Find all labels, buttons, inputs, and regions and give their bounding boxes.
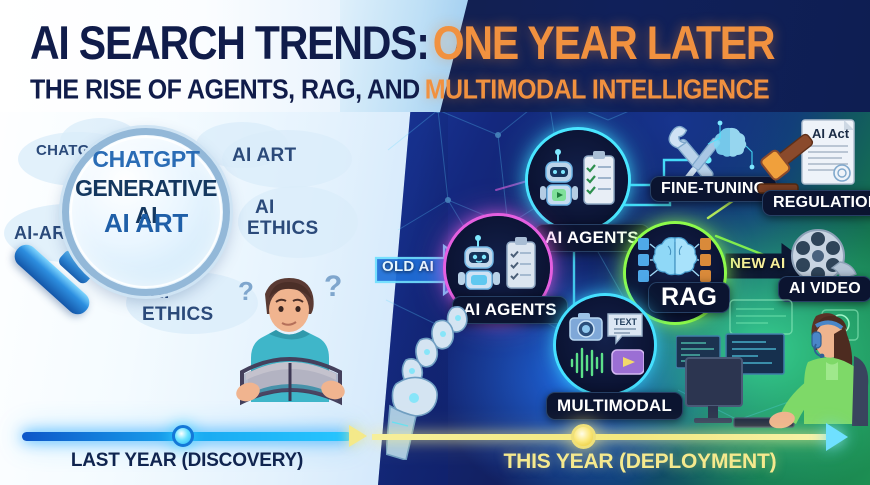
- magnifier-text-ai-art: AI ART: [62, 208, 230, 239]
- page-title: AI SEARCH TRENDS:ONE YEAR LATER: [30, 16, 850, 64]
- svg-text:?: ?: [238, 276, 254, 306]
- title-primary: AI SEARCH TRENDS:: [30, 16, 429, 71]
- title-accent: ONE YEAR LATER: [433, 16, 775, 71]
- timeline-right-label: THIS YEAR (DEPLOYMENT): [440, 450, 840, 474]
- svg-text:AI Act: AI Act: [812, 126, 850, 141]
- new-ai-label: NEW AI: [730, 255, 785, 272]
- timeline-right-marker: [571, 424, 596, 449]
- svg-text:TEXT: TEXT: [614, 317, 638, 327]
- timeline-transition-arrow-icon: [349, 425, 367, 447]
- robot-clipboard-icon: [458, 234, 538, 296]
- keyword-ai-ethics-bottom-line2: ETHICS: [142, 305, 213, 324]
- analyst-workstation-illustration: [676, 296, 870, 436]
- subtitle-accent: MULTIMODAL INTELLIGENCE: [425, 74, 770, 106]
- timeline-right-bar: [372, 434, 840, 440]
- old-ai-label: OLD AI: [382, 258, 434, 275]
- keyword-ai-ethics-right-line1: AI: [255, 198, 275, 217]
- magnifier-text-chatgpt: CHATGPT: [62, 146, 230, 173]
- confused-reader-illustration: ? ?: [232, 268, 350, 416]
- timeline-right-arrow-icon: [826, 423, 848, 451]
- infographic-canvas: AI SEARCH TRENDS:ONE YEAR LATER THE RISE…: [0, 0, 870, 485]
- robot-checklist-icon: [540, 146, 618, 216]
- subtitle-primary: THE RISE OF AGENTS, RAG, AND: [30, 74, 420, 106]
- svg-text:?: ?: [324, 270, 342, 303]
- multimodal-icons: TEXT: [568, 310, 644, 378]
- header-band: AI SEARCH TRENDS:ONE YEAR LATER THE RISE…: [0, 0, 870, 112]
- timeline-left-marker: [172, 425, 194, 447]
- page-subtitle: THE RISE OF AGENTS, RAG, ANDMULTIMODAL I…: [30, 74, 850, 104]
- keyword-ai-ethics-right-line2: ETHICS: [247, 219, 318, 238]
- keyword-ai-art-right: AI ART: [232, 146, 296, 165]
- node-multimodal-label: MULTIMODAL: [546, 392, 683, 420]
- timeline-left-label: LAST YEAR (DISCOVERY): [22, 450, 352, 472]
- regulation-label: REGULATION: [762, 190, 870, 216]
